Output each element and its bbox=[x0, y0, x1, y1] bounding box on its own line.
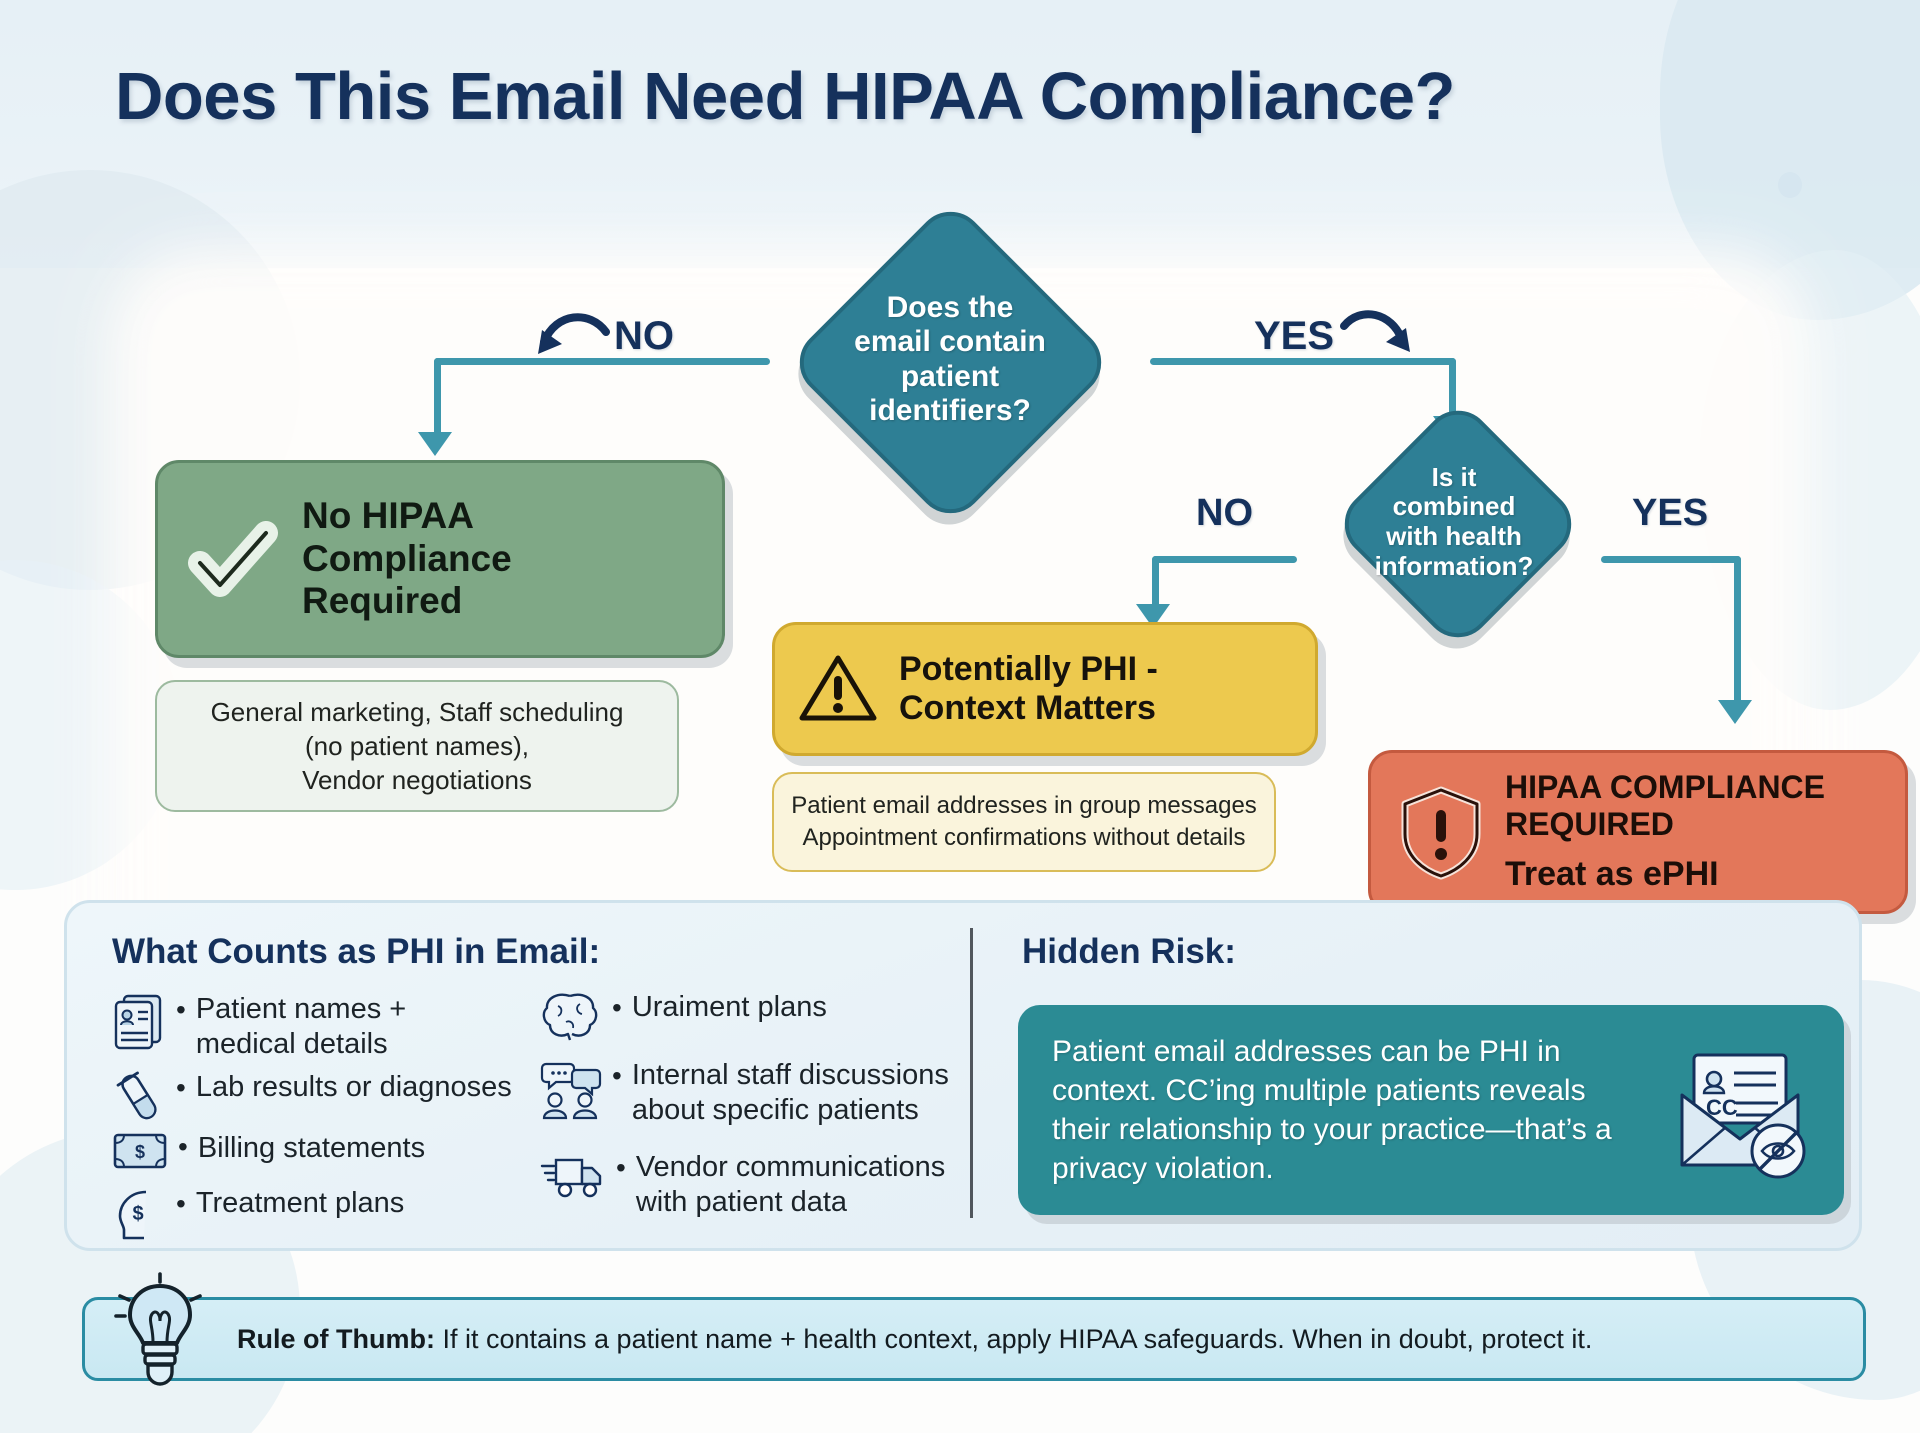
decision-2-label: Is it combined with health information? bbox=[1338, 452, 1570, 592]
edge-label-yes-2: YES bbox=[1632, 492, 1708, 535]
phi-list-item-5-label: Uraiment plans bbox=[632, 990, 827, 1025]
bullet-dot: • bbox=[176, 992, 186, 1024]
outcome-no-compliance-title: No HIPAA Compliance Required bbox=[302, 495, 512, 624]
outcome-hipaa-required-text: HIPAA COMPLIANCE REQUIRED Treat as ePHI bbox=[1505, 769, 1825, 895]
outcome-green-line-1: No HIPAA bbox=[302, 495, 512, 538]
curved-arrow-yes-icon bbox=[1338, 310, 1420, 368]
decision-2-line-4: information? bbox=[1375, 552, 1534, 582]
hidden-risk-body: Patient email addresses can be PHI in co… bbox=[1018, 1032, 1627, 1188]
decision-1-label: Does the email contain patient identifie… bbox=[810, 272, 1090, 447]
phi-list-item-3: $ • Billing statements bbox=[112, 1131, 512, 1171]
outcome-red-line-1: HIPAA COMPLIANCE bbox=[1505, 769, 1825, 806]
outcome-green-line-3: Required bbox=[302, 580, 512, 623]
delivery-truck-icon bbox=[540, 1150, 606, 1200]
bullet-dot: • bbox=[178, 1131, 188, 1161]
infographic-canvas: Does This Email Need HIPAA Compliance? N… bbox=[0, 0, 1920, 1433]
envelope-cc-noview-icon: CC bbox=[1666, 1041, 1816, 1186]
bullet-dot: • bbox=[176, 1070, 186, 1102]
outcome-potentially-phi-title: Potentially PHI - Context Matters bbox=[899, 650, 1158, 729]
edge-label-yes-1: YES bbox=[1254, 314, 1334, 359]
edge-label-no-1: NO bbox=[614, 314, 674, 359]
rule-of-thumb-text: Rule of Thumb: If it contains a patient … bbox=[85, 1324, 1592, 1355]
decision-1-line-1: Does the bbox=[854, 291, 1046, 325]
decor-dot bbox=[1778, 172, 1802, 198]
test-tube-icon bbox=[112, 1070, 166, 1126]
svg-text:$: $ bbox=[132, 1203, 143, 1225]
outcome-potentially-phi[interactable]: Potentially PHI - Context Matters bbox=[772, 622, 1318, 756]
checkmark-icon bbox=[180, 507, 284, 611]
connector-d2-yes-arrowhead bbox=[1718, 700, 1752, 724]
rule-of-thumb-bar: Rule of Thumb: If it contains a patient … bbox=[82, 1297, 1866, 1381]
rule-of-thumb-body: If it contains a patient name + health c… bbox=[435, 1324, 1592, 1354]
connector-d2-yes-vertical bbox=[1734, 556, 1741, 704]
phi-list-item-4-label: Treatment plans bbox=[196, 1186, 404, 1221]
lightbulb-icon bbox=[112, 1272, 208, 1392]
warning-triangle-icon bbox=[795, 646, 881, 732]
rule-of-thumb-label: Rule of Thumb: bbox=[237, 1324, 435, 1354]
phi-list-item-2: • Lab results or diagnoses bbox=[112, 1070, 512, 1126]
green-caption-line-3: Vendor negotiations bbox=[211, 763, 624, 797]
decision-2-line-2: combined bbox=[1375, 492, 1534, 522]
decision-1-line-3: patient bbox=[854, 360, 1046, 394]
document-person-icon bbox=[112, 992, 166, 1050]
connector-d2-yes-horizontal bbox=[1601, 556, 1741, 563]
phi-list-item-1-label: Patient names + medical details bbox=[196, 992, 512, 1063]
staff-discussion-icon bbox=[540, 1058, 602, 1120]
phi-list-item-5: • Uraiment plans bbox=[540, 990, 940, 1044]
bullet-dot: • bbox=[612, 990, 622, 1022]
decision-2-line-3: with health bbox=[1375, 522, 1534, 552]
bullet-dot: • bbox=[612, 1058, 622, 1090]
curved-arrow-no-icon bbox=[528, 312, 610, 370]
phi-list-item-7-label: Vendor communications with patient data bbox=[636, 1150, 960, 1221]
outcome-red-line-2: REQUIRED bbox=[1505, 806, 1825, 843]
banknote-icon: $ bbox=[112, 1131, 168, 1171]
decision-1-line-4: identifiers? bbox=[854, 394, 1046, 428]
connector-no-vertical bbox=[434, 358, 441, 436]
decision-1-line-2: email contain bbox=[854, 325, 1046, 359]
bullet-dot: • bbox=[616, 1150, 626, 1182]
decision-2-line-1: Is it bbox=[1375, 463, 1534, 493]
green-caption-line-2: (no patient names), bbox=[211, 729, 624, 763]
yellow-caption-line-2: Appointment confirmations without detail… bbox=[791, 822, 1257, 854]
bullet-dot: • bbox=[176, 1186, 186, 1218]
head-dollar-icon: $ bbox=[112, 1186, 166, 1240]
phi-list-item-3-label: Billing statements bbox=[198, 1131, 425, 1166]
outcome-no-compliance[interactable]: No HIPAA Compliance Required bbox=[155, 460, 725, 658]
phi-list-item-6: • Internal staff discussions about speci… bbox=[540, 1058, 960, 1129]
phi-list-item-6-label: Internal staff discussions about specifi… bbox=[632, 1058, 960, 1129]
outcome-potentially-phi-caption: Patient email addresses in group message… bbox=[772, 772, 1276, 872]
outcome-no-compliance-caption: General marketing, Staff scheduling (no … bbox=[155, 680, 679, 812]
phi-list-item-7: • Vendor communications with patient dat… bbox=[540, 1150, 960, 1221]
hidden-risk-card: Patient email addresses can be PHI in co… bbox=[1018, 1005, 1844, 1215]
outcome-green-line-2: Compliance bbox=[302, 538, 512, 581]
outcome-yellow-line-2: Context Matters bbox=[899, 689, 1158, 728]
phi-list-item-4: $ • Treatment plans bbox=[112, 1186, 512, 1240]
outcome-hipaa-required[interactable]: HIPAA COMPLIANCE REQUIRED Treat as ePHI bbox=[1368, 750, 1908, 914]
outcome-yellow-line-1: Potentially PHI - bbox=[899, 650, 1158, 689]
page-title: Does This Email Need HIPAA Compliance? bbox=[115, 58, 1815, 135]
outcome-red-subtitle: Treat as ePHI bbox=[1505, 855, 1825, 894]
outcome-red-title: HIPAA COMPLIANCE REQUIRED bbox=[1505, 769, 1825, 843]
phi-list-item-2-label: Lab results or diagnoses bbox=[196, 1070, 512, 1105]
phi-section-heading: What Counts as PHI in Email: bbox=[112, 932, 600, 972]
hidden-risk-heading: Hidden Risk: bbox=[1022, 932, 1236, 972]
panel-divider bbox=[970, 928, 973, 1218]
edge-label-no-2: NO bbox=[1196, 492, 1253, 535]
shield-alert-icon bbox=[1395, 782, 1487, 882]
connector-no-arrowhead bbox=[418, 432, 452, 456]
phi-list-item-1: • Patient names + medical details bbox=[112, 992, 512, 1063]
svg-text:$: $ bbox=[135, 1142, 145, 1162]
yellow-caption-line-1: Patient email addresses in group message… bbox=[791, 790, 1257, 822]
green-caption-line-1: General marketing, Staff scheduling bbox=[211, 695, 624, 729]
connector-d2-no-horizontal bbox=[1152, 556, 1297, 563]
connector-d2-no-vertical bbox=[1152, 556, 1159, 608]
brain-icon bbox=[540, 990, 602, 1044]
